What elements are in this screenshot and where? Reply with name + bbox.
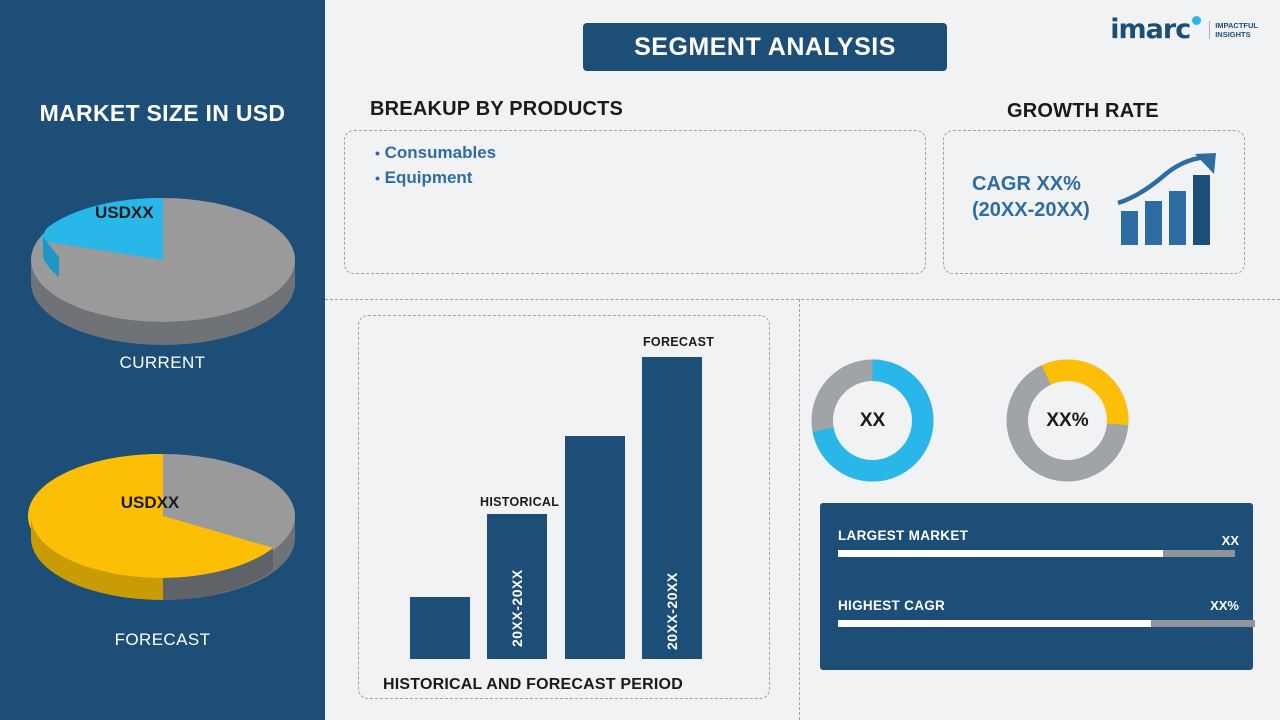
bar-1-period-label: 20XX-20XX (509, 527, 525, 647)
market-size-title: MARKET SIZE IN USD (0, 100, 325, 127)
forecast-annotation: FORECAST (643, 335, 714, 349)
cagr-line2: (20XX-20XX) (972, 197, 1090, 223)
breakup-item-0-label: Consumables (385, 143, 496, 162)
right-area: SEGMENT ANALYSIS imarc IMPACTFUL INSIGHT… (325, 0, 1280, 720)
logo-wordmark: imarc (1110, 14, 1190, 45)
breakup-item-1-label: Equipment (385, 168, 473, 187)
breakup-heading: BREAKUP BY PRODUCTS (370, 98, 623, 121)
chart-caption: HISTORICAL AND FORECAST PERIOD (383, 676, 683, 694)
cagr-line1: CAGR XX% (972, 171, 1090, 197)
vertical-divider (799, 299, 800, 720)
current-pie-caption: CURRENT (0, 353, 325, 373)
growth-box: CAGR XX% (20XX-20XX) (943, 130, 1245, 274)
logo-dot-icon (1192, 16, 1201, 25)
logo-tagline-line1: IMPACTFUL (1215, 21, 1258, 30)
left-panel: MARKET SIZE IN USD USDXX CURRENT (0, 0, 325, 720)
donut-0-value: XX (833, 381, 912, 460)
bar-3-period-label: 20XX-20XX (664, 540, 680, 650)
stat-1-label: HIGHEST CAGR (838, 598, 945, 613)
stat-1-fill (838, 620, 1151, 627)
logo-tagline: IMPACTFUL INSIGHTS (1209, 21, 1258, 39)
stat-1-value: XX% (1210, 598, 1239, 613)
stat-0-value: XX (1222, 533, 1239, 548)
stats-card: LARGEST MARKET XX HIGHEST CAGR XX% (820, 503, 1253, 670)
breakup-box: • Consumables • Equipment (344, 130, 926, 274)
cagr-text: CAGR XX% (20XX-20XX) (972, 171, 1090, 223)
growth-heading: GROWTH RATE (1007, 100, 1159, 123)
breakup-item-1: • Equipment (375, 168, 496, 188)
infographic-root: MARKET SIZE IN USD USDXX CURRENT (0, 0, 1280, 720)
current-pie-block: USDXX CURRENT (0, 165, 325, 373)
current-pie-label: USDXX (95, 203, 235, 223)
bullet-icon: • (375, 145, 380, 161)
forecast-pie-block: USDXX FORECAST (0, 438, 325, 650)
stat-0-label: LARGEST MARKET (838, 528, 968, 543)
segment-analysis-title: SEGMENT ANALYSIS (583, 23, 947, 71)
bar-2 (565, 436, 625, 659)
bar-0 (410, 597, 470, 659)
donut-1-value: XX% (1028, 381, 1107, 460)
forecast-pie-caption: FORECAST (0, 630, 325, 650)
current-pie-chart (27, 165, 299, 345)
growth-arrow-bars-icon (1115, 151, 1230, 251)
bullet-icon: • (375, 170, 380, 186)
breakup-item-0: • Consumables (375, 143, 496, 163)
forecast-pie-chart (27, 438, 299, 618)
historical-annotation: HISTORICAL (480, 495, 559, 509)
logo-tagline-line2: INSIGHTS (1215, 30, 1250, 39)
imarc-logo: imarc IMPACTFUL INSIGHTS (1110, 14, 1258, 45)
horizontal-divider (325, 299, 1280, 300)
stat-0-fill (838, 550, 1163, 557)
forecast-pie-label: USDXX (70, 493, 230, 513)
segment-analysis-title-text: SEGMENT ANALYSIS (634, 33, 896, 62)
